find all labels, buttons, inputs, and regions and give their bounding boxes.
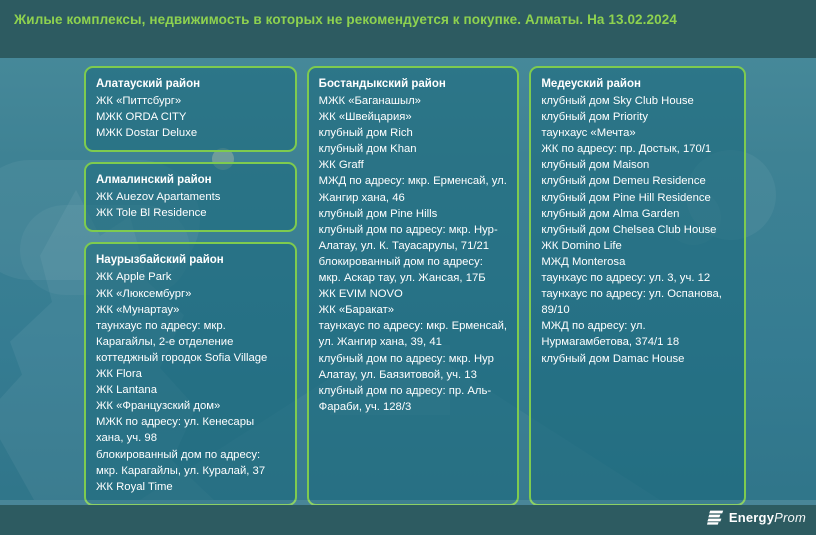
district-card-title: Наурызбайский район (96, 252, 285, 268)
list-item: блокированный дом по адресу: мкр. Аскар … (319, 254, 508, 286)
district-card-title: Медеуский район (541, 76, 734, 92)
list-item: клубный дом Maison (541, 157, 734, 173)
list-item: МЖК ORDA CITY (96, 109, 285, 125)
list-item: ЖК Auezov Apartaments (96, 189, 285, 205)
list-item: клубный дом по адресу: пр. Аль-Фараби, у… (319, 383, 508, 415)
district-complex-list: ЖК «Питтсбург» МЖК ORDA CITY МЖК Dostar … (96, 93, 285, 141)
district-card-title: Бостандыкский район (319, 76, 508, 92)
list-item: клубный дом Demeu Residence (541, 173, 734, 189)
column-middle: Бостандыкский район МЖК «Баганашыл» ЖК «… (307, 66, 520, 506)
list-item: ЖК «Люксембург» (96, 286, 285, 302)
list-item: клубный дом Pine Hills (319, 206, 508, 222)
list-item: таунхаус по адресу: мкр. Карагайлы, 2-е … (96, 318, 285, 350)
list-item: ЖК «Баракат» (319, 302, 508, 318)
list-item: клубный дом по адресу: мкр. Нур-Алатау, … (319, 222, 508, 254)
list-item: ЖК Royal Time (96, 479, 285, 495)
list-item: клубный дом Sky Club House (541, 93, 734, 109)
footer-bar: EnergyProm (0, 505, 816, 535)
list-item: ЖК EVIM NOVO (319, 286, 508, 302)
list-item: МЖК по адресу: ул. Кенесары хана, уч. 98 (96, 414, 285, 446)
list-item: МЖД по адресу: мкр. Ерменсай, ул. Жангир… (319, 173, 508, 205)
list-item: клубный дом Priority (541, 109, 734, 125)
energyprom-logo-text: EnergyProm (729, 510, 806, 525)
energyprom-e-logo-icon (707, 510, 724, 525)
list-item: МЖК Dostar Deluxe (96, 125, 285, 141)
list-item: ЖК «Швейцария» (319, 109, 508, 125)
column-right: Медеуский район клубный дом Sky Club Hou… (529, 66, 746, 506)
column-left: Алатауский район ЖК «Питтсбург» МЖК ORDA… (84, 66, 297, 506)
list-item: клубный дом Chelsea Club House (541, 222, 734, 238)
list-item: таунхаус по адресу: ул. Оспанова, 89/10 (541, 286, 734, 318)
list-item: ЖК Apple Park (96, 269, 285, 285)
list-item: таунхаус по адресу: ул. 3, уч. 12 (541, 270, 734, 286)
list-item: ЖК «Французский дом» (96, 398, 285, 414)
list-item: клубный дом Pine Hill Residence (541, 190, 734, 206)
list-item: ЖК Tole Bl Residence (96, 205, 285, 221)
page-title: Жилые комплексы, недвижимость в которых … (14, 10, 804, 29)
district-complex-list: ЖК Apple Park ЖК «Люксембург» ЖК «Мунарт… (96, 269, 285, 494)
list-item: клубный дом по адресу: мкр. Нур Алатау, … (319, 351, 508, 383)
district-card-almalinskiy: Алмалинский район ЖК Auezov Apartaments … (84, 162, 297, 232)
list-item: ЖК по адресу: пр. Достык, 170/1 (541, 141, 734, 157)
list-item: ЖК Domino Life (541, 238, 734, 254)
list-item: ЖК «Мунартау» (96, 302, 285, 318)
infographic-root: Жилые комплексы, недвижимость в которых … (0, 0, 816, 535)
list-item: МЖД по адресу: ул. Нурмагамбетова, 374/1… (541, 318, 734, 350)
district-card-nauryzbayskiy: Наурызбайский район ЖК Apple Park ЖК «Лю… (84, 242, 297, 505)
list-item: коттеджный городок Sofia Village (96, 350, 285, 366)
district-complex-list: МЖК «Баганашыл» ЖК «Швейцария» клубный д… (319, 93, 508, 415)
energyprom-logo: EnergyProm (707, 510, 806, 525)
district-card-bostandykskiy: Бостандыкский район МЖК «Баганашыл» ЖК «… (307, 66, 520, 506)
list-item: ЖК Lantana (96, 382, 285, 398)
list-item: ЖК Graff (319, 157, 508, 173)
list-item: ЖК «Питтсбург» (96, 93, 285, 109)
list-item: клубный дом Khan (319, 141, 508, 157)
district-card-medeuskiy: Медеуский район клубный дом Sky Club Hou… (529, 66, 746, 506)
district-card-alatauskiy: Алатауский район ЖК «Питтсбург» МЖК ORDA… (84, 66, 297, 152)
list-item: клубный дом Alma Garden (541, 206, 734, 222)
district-card-title: Алмалинский район (96, 172, 285, 188)
header-bar: Жилые комплексы, недвижимость в которых … (0, 0, 816, 58)
list-item: таунхаус по адресу: мкр. Ерменсай, ул. Ж… (319, 318, 508, 350)
list-item: МЖК «Баганашыл» (319, 93, 508, 109)
district-complex-list: клубный дом Sky Club House клубный дом P… (541, 93, 734, 367)
list-item: клубный дом Rich (319, 125, 508, 141)
list-item: клубный дом Damac House (541, 351, 734, 367)
district-complex-list: ЖК Auezov Apartaments ЖК Tole Bl Residen… (96, 189, 285, 221)
list-item: ЖК Flora (96, 366, 285, 382)
list-item: таунхаус «Мечта» (541, 125, 734, 141)
district-columns: Алатауский район ЖК «Питтсбург» МЖК ORDA… (84, 66, 746, 506)
logo-word-prom: Prom (774, 510, 806, 525)
logo-word-energy: Energy (729, 510, 774, 525)
list-item: блокированный дом по адресу: мкр. Карага… (96, 447, 285, 479)
district-card-title: Алатауский район (96, 76, 285, 92)
list-item: МЖД Monterosa (541, 254, 734, 270)
